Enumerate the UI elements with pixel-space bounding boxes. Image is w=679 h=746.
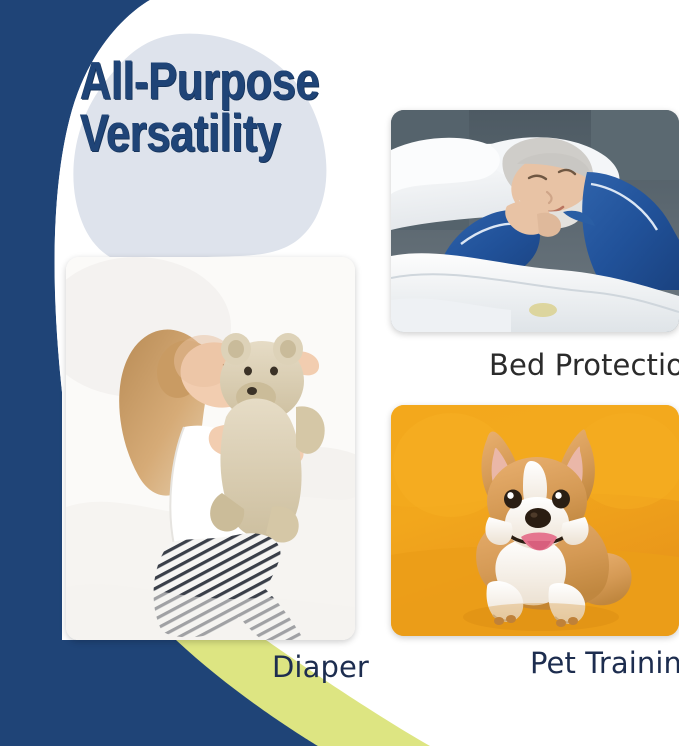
image-card-bed-protection[interactable]	[391, 110, 679, 332]
card-label-bed-protection: Bed Protection	[489, 348, 679, 382]
card-label-pet-training: Pet Training	[530, 646, 679, 680]
page-title-line-1: All-Purpose	[80, 56, 326, 108]
image-card-diaper[interactable]	[66, 257, 355, 640]
page-title: All-Purpose Versatility	[80, 56, 380, 160]
promo-banner: All-Purpose Versatility	[0, 0, 679, 746]
corgi-puppy-on-orange-background-photo	[391, 405, 679, 636]
card-label-diaper: Diaper	[272, 650, 369, 684]
image-card-pet-training[interactable]	[391, 405, 679, 636]
page-title-line-2: Versatility	[80, 108, 326, 160]
elderly-man-sleeping-in-bed-blue-pajamas-photo	[391, 110, 679, 332]
child-sleeping-with-teddy-bear-on-white-bed-photo	[66, 257, 355, 640]
